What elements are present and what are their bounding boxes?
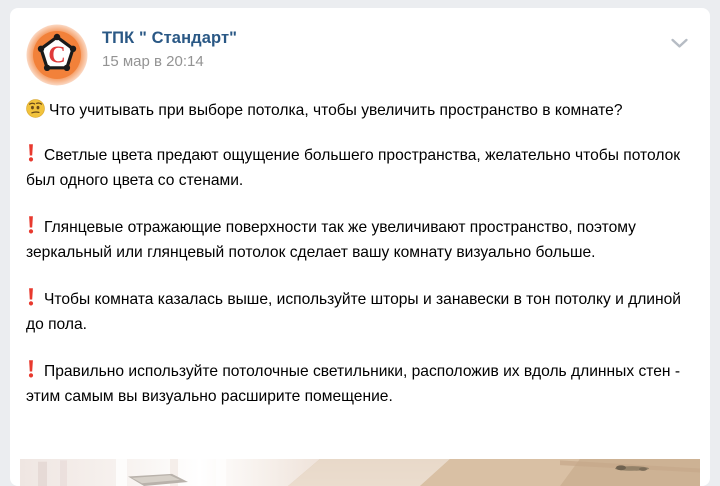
photo-content: [20, 459, 700, 486]
chevron-down-icon: [671, 38, 688, 49]
post-header: C ТПК " Стандарт" 15 мар в 20:14: [10, 8, 710, 90]
post-paragraph-text: Глянцевые отражающие поверхности так же …: [26, 219, 636, 261]
post-paragraph: Светлые цвета предают ощущение большего …: [26, 143, 694, 193]
post-paragraph: Чтобы комната казалась выше, используйте…: [26, 287, 694, 337]
post-paragraph-text: Что учитывать при выборе потолка, чтобы …: [49, 102, 623, 119]
thinking-face-emoji: [26, 99, 45, 118]
avatar[interactable]: C: [26, 24, 88, 86]
post-text: Что учитывать при выборе потолка, чтобы …: [10, 90, 710, 409]
room-interior-photo[interactable]: [20, 459, 700, 486]
red-exclamation-emoji: [26, 287, 36, 307]
post-date[interactable]: 15 мар в 20:14: [102, 52, 237, 72]
author-name[interactable]: ТПК " Стандарт": [102, 28, 237, 48]
post-card: C ТПК " Стандарт" 15 мар в 20:14 Что учи…: [10, 8, 710, 486]
post-more-button[interactable]: [666, 34, 692, 52]
post-paragraph-text: Чтобы комната казалась выше, используйте…: [26, 291, 681, 333]
post-paragraph-text: Правильно используйте потолочные светиль…: [26, 363, 680, 405]
post-paragraph: Что учитывать при выборе потолка, чтобы …: [26, 98, 694, 123]
author-block: ТПК " Стандарт" 15 мар в 20:14: [102, 22, 237, 72]
post-paragraph: Глянцевые отражающие поверхности так же …: [26, 215, 694, 265]
red-exclamation-emoji: [26, 359, 36, 379]
post-paragraph: Правильно используйте потолочные светиль…: [26, 359, 694, 409]
post-paragraph-text: Светлые цвета предают ощущение большего …: [26, 147, 680, 189]
red-exclamation-emoji: [26, 143, 36, 163]
pentagon-logo-icon: C: [26, 24, 88, 86]
svg-text:C: C: [48, 43, 65, 69]
red-exclamation-emoji: [26, 215, 36, 235]
